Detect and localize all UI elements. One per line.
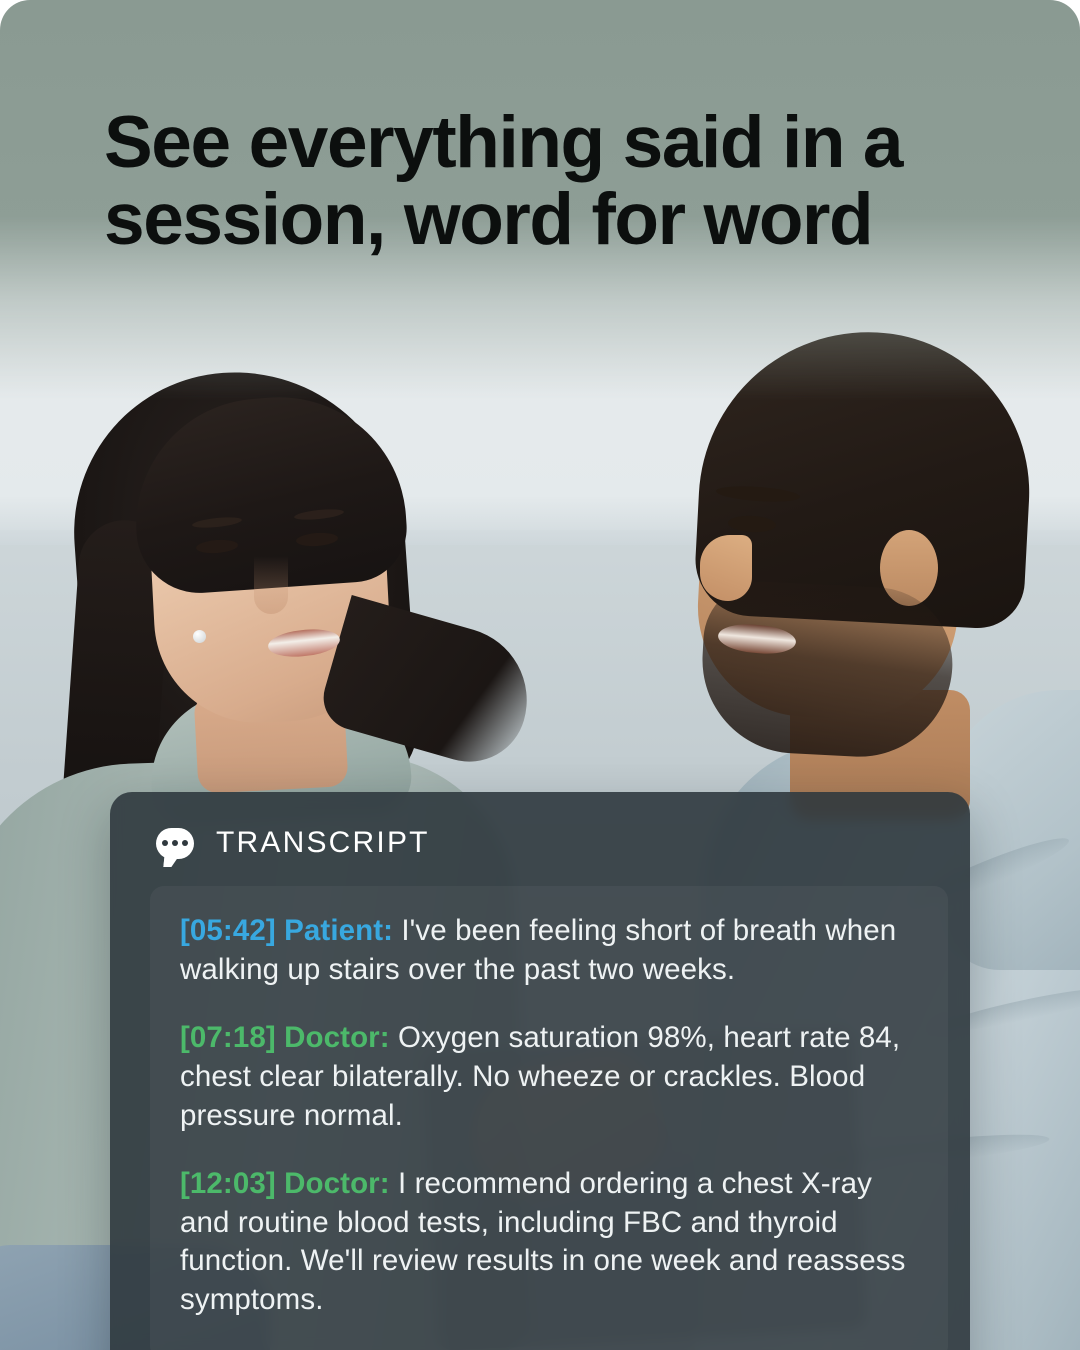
speech-bubble-dots: [156, 828, 194, 859]
transcript-entry: [05:42] Patient: I've been feeling short…: [180, 912, 918, 989]
transcript-speaker: Doctor:: [284, 1021, 390, 1054]
transcript-timestamp: [12:03]: [180, 1167, 276, 1200]
speech-bubble-icon: [156, 828, 194, 859]
transcript-card: TRANSCRIPT [05:42] Patient: I've been fe…: [110, 792, 970, 1350]
transcript-entry-list: [05:42] Patient: I've been feeling short…: [150, 886, 948, 1350]
doctor-nose: [700, 535, 752, 601]
transcript-card-header: TRANSCRIPT: [110, 792, 970, 858]
patient-nose: [254, 556, 288, 614]
patient-earring: [193, 630, 206, 643]
transcript-entry: [07:18] Doctor: Oxygen saturation 98%, h…: [180, 1019, 918, 1135]
transcript-speaker: Doctor:: [284, 1167, 390, 1200]
page-title: See everything said in a session, word f…: [104, 104, 984, 259]
transcript-entry: [12:03] Doctor: I recommend ordering a c…: [180, 1165, 918, 1320]
transcript-speaker: Patient:: [284, 914, 393, 947]
transcript-title: TRANSCRIPT: [216, 828, 430, 858]
transcript-timestamp: [07:18]: [180, 1021, 276, 1054]
transcript-timestamp: [05:42]: [180, 914, 276, 947]
promo-card: See everything said in a session, word f…: [0, 0, 1080, 1350]
